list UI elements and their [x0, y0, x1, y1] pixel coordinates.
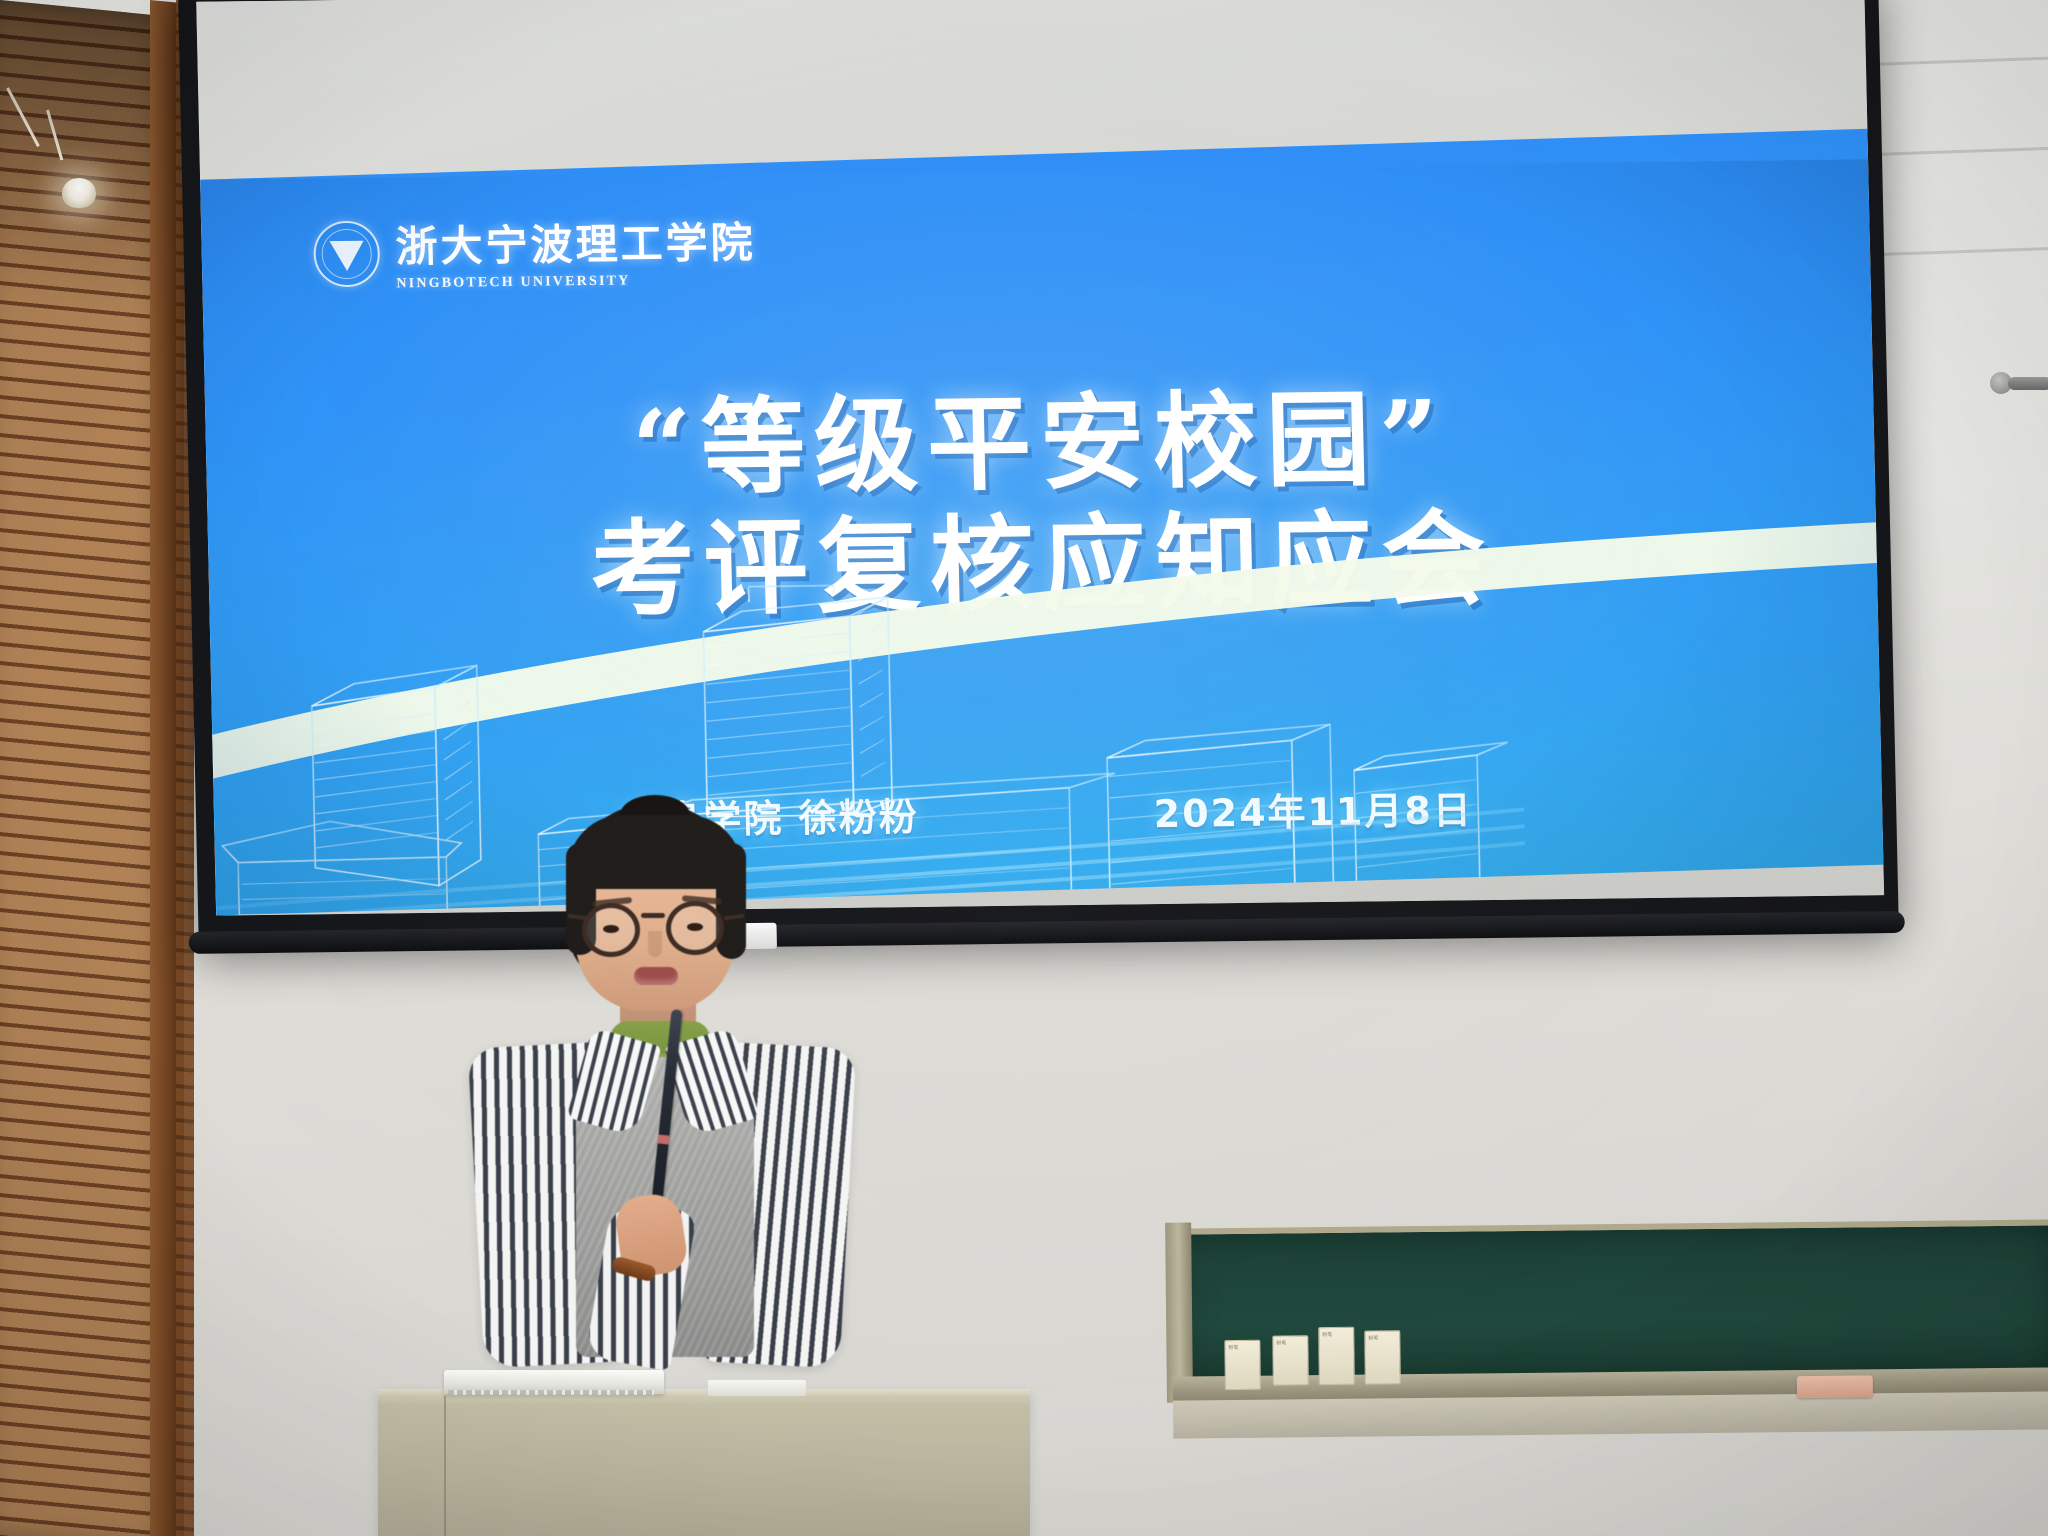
presenter-eye-right [687, 923, 703, 931]
presenter-nose [648, 931, 662, 957]
projection-screen-surface: 浙大宁波理工学院 NINGBOTECH UNIVERSITY “等级平安校园” … [196, 0, 1884, 916]
chalk-eraser [1797, 1375, 1873, 1398]
podium-laptop-keyboard[interactable] [448, 1390, 654, 1395]
ningbotech-university-seal-icon [313, 220, 380, 287]
university-name-chinese: 浙大宁波理工学院 [395, 209, 756, 274]
chalk-box: 粉笔 [1364, 1330, 1401, 1384]
chalk-box: 粉笔 [1272, 1335, 1309, 1385]
projection-screen: 浙大宁波理工学院 NINGBOTECH UNIVERSITY “等级平安校园” … [178, 0, 1899, 942]
slide-title-line-1: “等级平安校园” [205, 374, 1876, 515]
podium-control-panel[interactable] [708, 1380, 806, 1396]
university-logo: 浙大宁波理工学院 NINGBOTECH UNIVERSITY [313, 209, 757, 293]
presentation-slide: 浙大宁波理工学院 NINGBOTECH UNIVERSITY “等级平安校园” … [200, 129, 1883, 916]
pointer-pen-band [658, 1134, 670, 1144]
presenter-at-podium [470, 795, 850, 1415]
presenter-eye-left [603, 925, 619, 933]
university-name-english: NINGBOTECH UNIVERSITY [396, 272, 756, 292]
wall-mounted-bracket [2008, 377, 2048, 390]
campus-skyline-line-art [209, 576, 1526, 916]
podium-panel-seam [444, 1396, 446, 1536]
chalk-box: 粉笔 [1224, 1340, 1261, 1390]
chalk-box: 粉笔 [1318, 1327, 1355, 1385]
lecture-hall-scene: 浙大宁波理工学院 NINGBOTECH UNIVERSITY “等级平安校园” … [0, 0, 2048, 1536]
lecture-podium [378, 1396, 1030, 1536]
green-chalkboard: 粉笔 粉笔 粉笔 粉笔 [1175, 1219, 2048, 1388]
presenter-mouth [634, 967, 678, 985]
ceiling-light-fixture [62, 178, 96, 208]
glasses-bridge [641, 913, 665, 918]
